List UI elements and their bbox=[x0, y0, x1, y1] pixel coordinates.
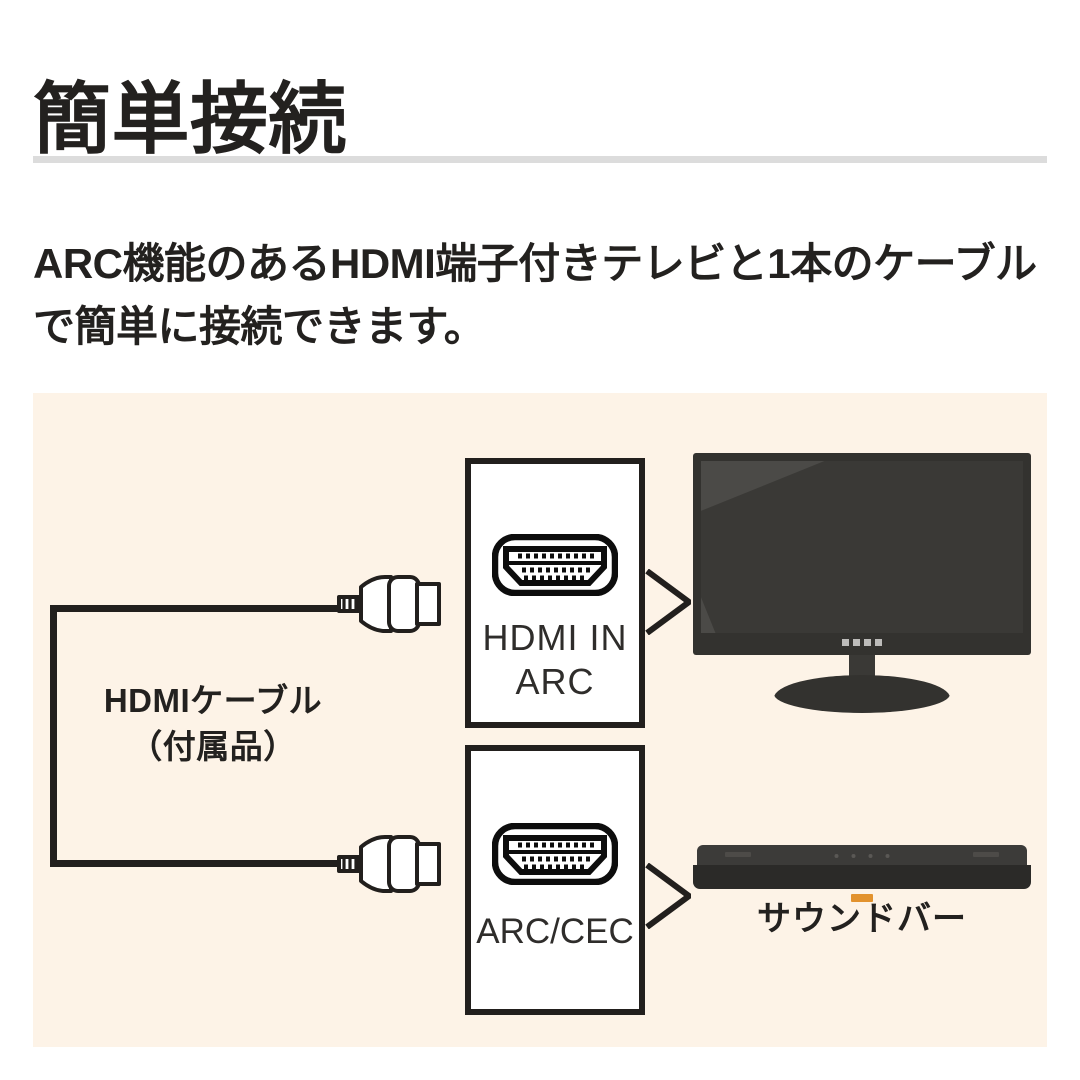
port-card-label-hdmi-in-arc: HDMI IN ARC bbox=[465, 616, 645, 704]
tv-stand-base bbox=[774, 675, 950, 713]
soundbar-label: サウンドバー bbox=[669, 891, 1047, 940]
soundbar-control-dots bbox=[835, 854, 890, 858]
port-label-line2: ARC bbox=[465, 660, 645, 704]
soundbar-front-grille bbox=[693, 865, 1031, 889]
title-divider bbox=[33, 156, 1047, 163]
connection-diagram-panel: HDMIケーブル （付属品） bbox=[33, 393, 1047, 1047]
port-label-line1: ARC/CEC bbox=[465, 911, 645, 954]
hdmi-plug-icon-bottom bbox=[331, 833, 443, 895]
soundbar-top-surface bbox=[697, 845, 1027, 867]
page-title: 簡単接続 bbox=[33, 80, 347, 158]
arrow-right-icon-tv bbox=[645, 569, 691, 635]
hdmi-cable-label-line1: HDMIケーブル bbox=[63, 678, 363, 724]
port-card-arc-cec[interactable]: ARC/CEC bbox=[465, 745, 645, 1015]
soundbar-icon bbox=[693, 845, 1031, 893]
page-description: ARC機能のあるHDMI端子付きテレビと1本のケーブルで簡単に接続できます。 bbox=[33, 232, 1047, 358]
hdmi-cable-label: HDMIケーブル （付属品） bbox=[63, 678, 363, 769]
tv-bezel bbox=[693, 453, 1031, 655]
port-card-label-arc-cec: ARC/CEC bbox=[465, 911, 645, 954]
port-card-hdmi-in-arc[interactable]: HDMI IN ARC bbox=[465, 458, 645, 728]
hdmi-port-icon bbox=[492, 823, 618, 885]
soundbar-brand-mark-left bbox=[725, 852, 751, 857]
hdmi-port-icon bbox=[492, 534, 618, 596]
soundbar-brand-mark-right bbox=[973, 852, 999, 857]
hdmi-plug-icon-top bbox=[331, 573, 443, 635]
tv-screen bbox=[701, 461, 1023, 633]
page-root: 簡単接続 ARC機能のあるHDMI端子付きテレビと1本のケーブルで簡単に接続でき… bbox=[0, 0, 1080, 1080]
hdmi-cable-label-line2: （付属品） bbox=[63, 724, 363, 770]
television-icon bbox=[693, 453, 1031, 711]
port-label-line1: HDMI IN bbox=[465, 616, 645, 660]
tv-screen-glare bbox=[701, 461, 1023, 633]
tv-indicator-dots bbox=[842, 639, 882, 646]
